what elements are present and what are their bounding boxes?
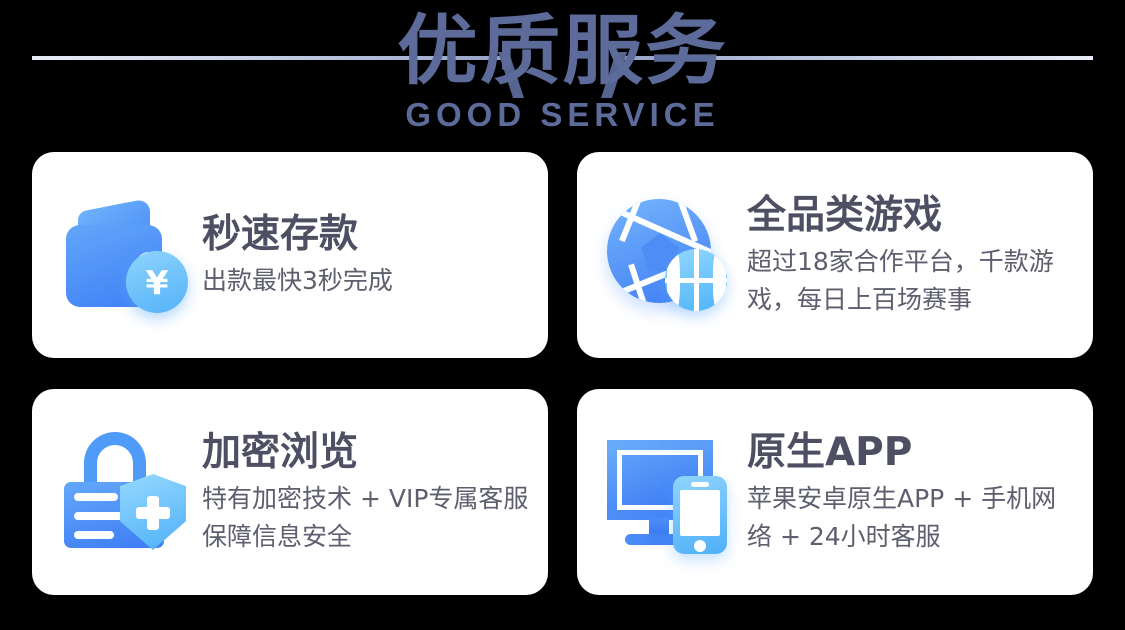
card-subtitle: 特有加密技术 + VIP专属客服保障信息安全	[202, 480, 530, 556]
card-subtitle: 出款最快3秒完成	[202, 262, 393, 300]
feature-card-encryption[interactable]: 加密浏览 特有加密技术 + VIP专属客服保障信息安全	[32, 389, 548, 595]
card-title: 全品类游戏	[747, 192, 1075, 239]
feature-card-native-app[interactable]: 原生APP 苹果安卓原生APP + 手机网络 + 24小时客服	[577, 389, 1093, 595]
page-header: 优质服务 GOOD SERVICE	[0, 0, 1125, 142]
feature-card-grid: ¥ 秒速存款 出款最快3秒完成 全品类游戏 超过18家合作平台，千款游戏，每日上…	[32, 152, 1093, 595]
soccer-basketball-icon	[603, 189, 735, 321]
card-subtitle: 苹果安卓原生APP + 手机网络 + 24小时客服	[747, 480, 1075, 556]
feature-card-deposit[interactable]: ¥ 秒速存款 出款最快3秒完成	[32, 152, 548, 358]
page-title: 优质服务	[0, 8, 1125, 94]
wallet-yen-icon: ¥	[58, 189, 190, 321]
card-subtitle: 超过18家合作平台，千款游戏，每日上百场赛事	[747, 243, 1075, 319]
page-subtitle: GOOD SERVICE	[0, 96, 1125, 134]
yen-symbol: ¥	[146, 266, 169, 299]
lock-shield-icon	[58, 426, 190, 558]
card-title: 原生APP	[747, 429, 1075, 476]
monitor-phone-icon	[603, 426, 735, 558]
card-title: 加密浏览	[202, 429, 530, 476]
card-title: 秒速存款	[202, 211, 393, 258]
feature-card-games[interactable]: 全品类游戏 超过18家合作平台，千款游戏，每日上百场赛事	[577, 152, 1093, 358]
